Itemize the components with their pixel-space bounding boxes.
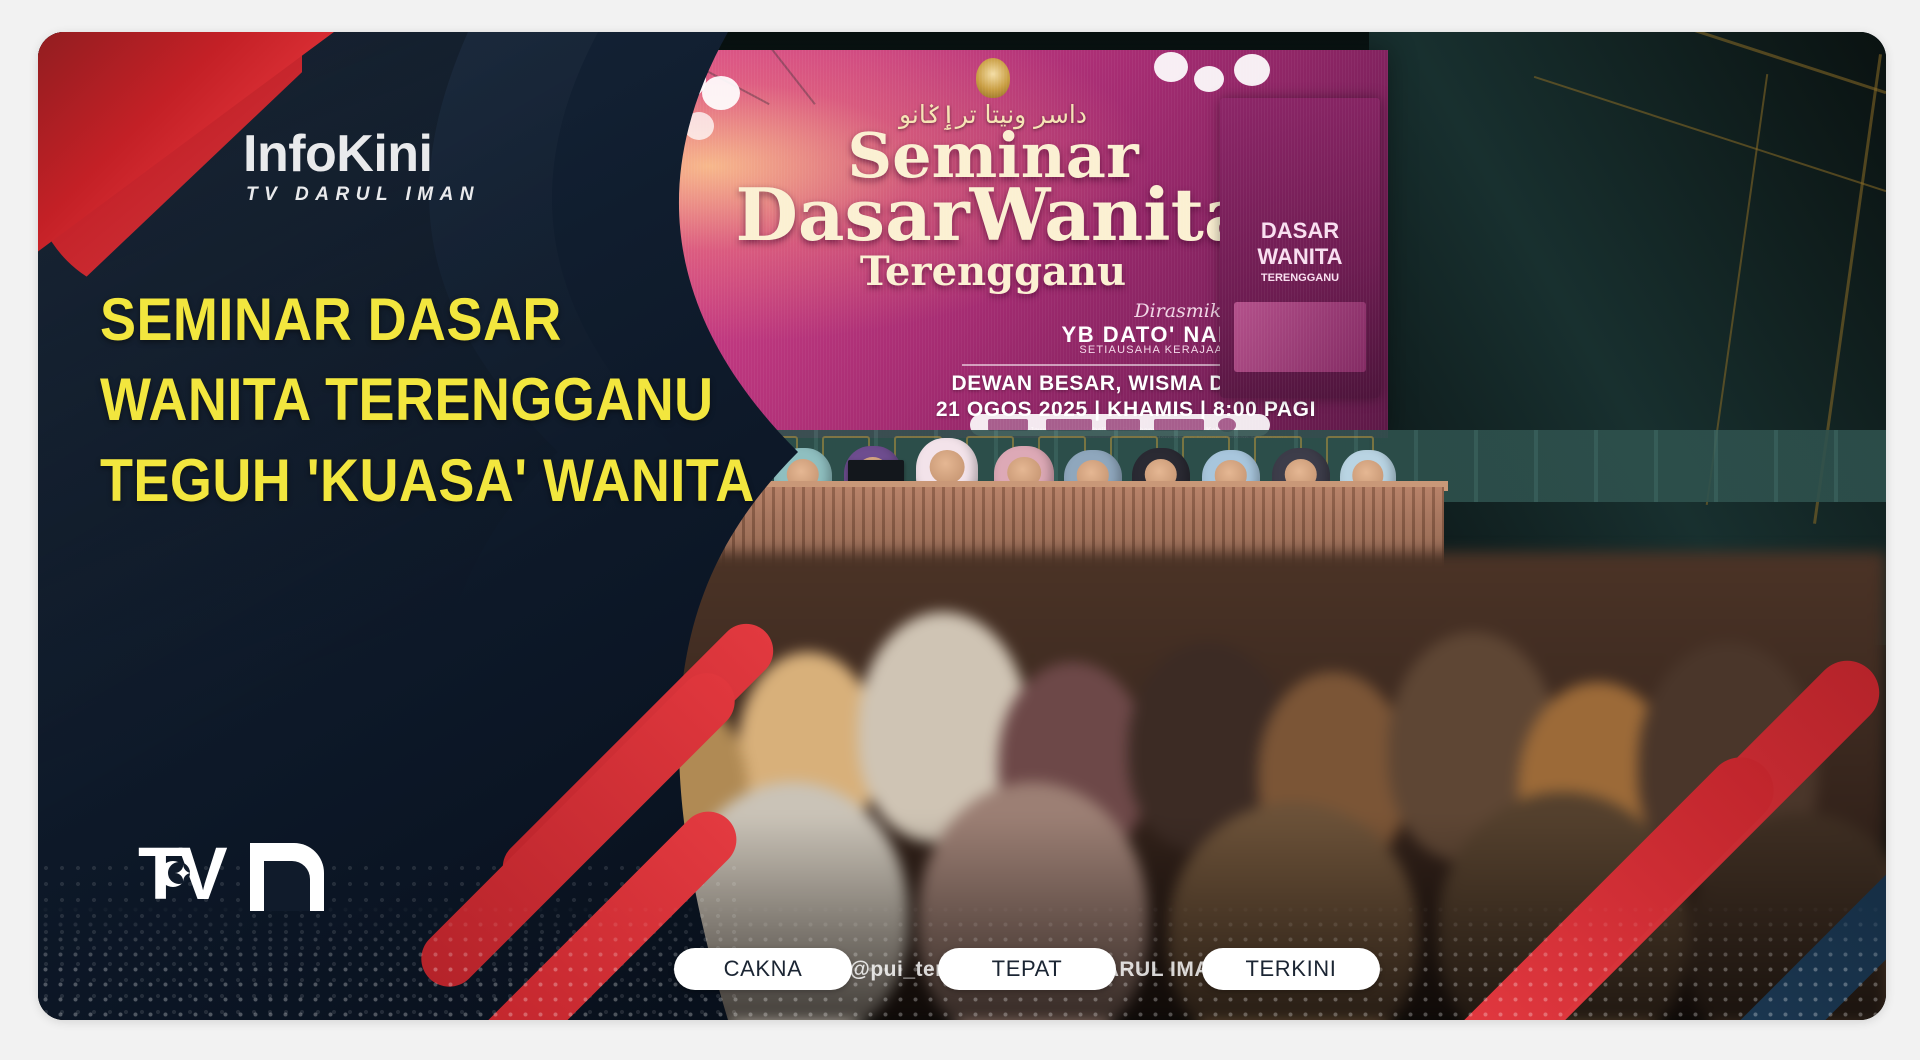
headline-line-1: SEMINAR DASAR [100, 280, 604, 360]
tvdi-logo: TV ✦ [138, 837, 338, 915]
tag-pill-cakna[interactable]: CAKNA [674, 948, 852, 990]
tag-pill-terkini[interactable]: TERKINI [1202, 948, 1380, 990]
poster-title-line3: Terengganu [860, 248, 1126, 295]
brand-subtitle: TV DARUL IMAN [243, 184, 683, 206]
headline-line-3: TEGUH 'KUASA' WANITA [100, 441, 604, 521]
headline-block: SEMINAR DASAR WANITA TERENGGANU TEGUH 'K… [100, 280, 660, 521]
poster-datetime: 21 OGOS 2025 | KHAMIS | 8:00 PAGI [936, 398, 1316, 422]
brand-title: InfoKini [243, 128, 683, 180]
sakura-branch [740, 50, 815, 105]
sakura-blossom [1194, 66, 1224, 92]
star-icon: ✦ [174, 863, 192, 885]
tagline-pill-row: CAKNA TEPAT TERKINI [38, 948, 1886, 990]
brand-block: InfoKini TV DARUL IMAN [243, 128, 683, 206]
sakura-blossom [1234, 54, 1270, 86]
poster-vip-name: YB DATO' NARA SETIA [1062, 322, 1332, 348]
poster-vip-title: SETIAUSAHA KERAJAAN TERENGGANU [1079, 344, 1326, 356]
tag-pill-tepat[interactable]: TEPAT [938, 948, 1116, 990]
poster-script-label: Dirasmikan oleh [1134, 300, 1292, 322]
poster-title-line2: DasarWanita [735, 180, 1250, 249]
poster-venue: DEWAN BESAR, WISMA DARUL IMAN [951, 372, 1348, 396]
headline-line-2: WANITA TERENGGANU [100, 360, 604, 440]
book-line2: WANITA [1257, 244, 1342, 270]
tvdi-d-shape [250, 843, 324, 911]
poster-arabic-title: داسر ونيتا ترٳݢانو [899, 100, 1087, 129]
book-line3: TERENGGANU [1261, 272, 1339, 284]
poster-divider [962, 364, 1332, 366]
sakura-blossom [702, 76, 740, 110]
news-card: داسر ونيتا ترٳݢانو Seminar DasarWanita T… [38, 32, 1886, 1020]
poster-title-line1: Seminar [847, 126, 1138, 186]
poster-book-graphic: DASAR WANITA TERENGGANU [1220, 98, 1380, 398]
book-line1: DASAR [1261, 218, 1339, 244]
sakura-blossom [1154, 52, 1188, 82]
state-crest-icon [976, 58, 1010, 98]
book-photo-panel [1234, 302, 1366, 372]
